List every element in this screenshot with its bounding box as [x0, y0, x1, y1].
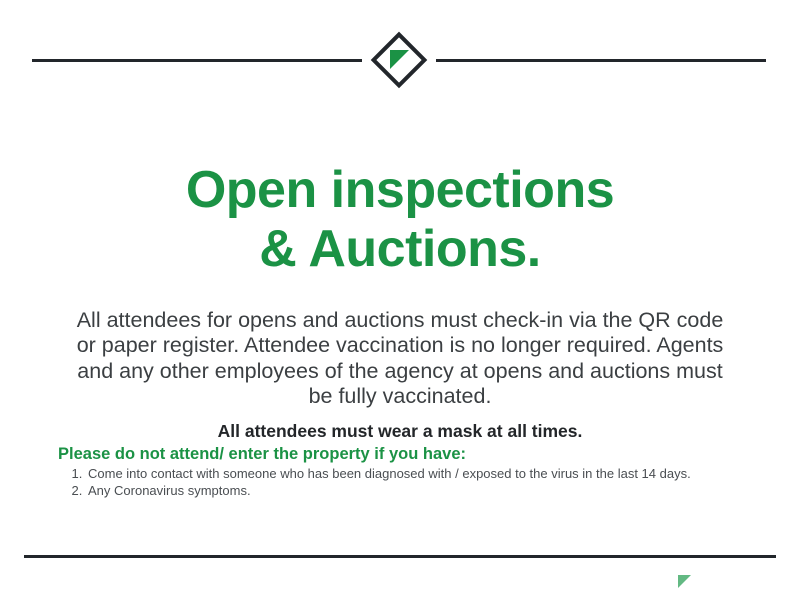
- mask-notice: All attendees must wear a mask at all ti…: [0, 420, 800, 442]
- footer-rule: [24, 555, 776, 558]
- do-not-attend-block: Please do not attend/ enter the property…: [58, 444, 758, 499]
- do-not-attend-heading: Please do not attend/ enter the property…: [58, 444, 758, 464]
- do-not-attend-list: Come into contact with someone who has b…: [58, 466, 758, 499]
- list-item: Any Coronavirus symptoms.: [86, 483, 758, 500]
- page-title: Open inspections & Auctions.: [0, 161, 800, 279]
- diamond-flag-logo: [368, 29, 430, 91]
- page-title-line-2: & Auctions.: [0, 220, 800, 279]
- list-item: Come into contact with someone who has b…: [86, 466, 758, 483]
- green-flag-mark-icon: [676, 573, 694, 591]
- header-rule-left: [32, 59, 362, 62]
- notice-poster: Open inspections & Auctions. All attende…: [0, 0, 800, 600]
- page-title-line-1: Open inspections: [0, 161, 800, 220]
- body-paragraph: All attendees for opens and auctions mus…: [68, 308, 732, 410]
- header-rule-right: [436, 59, 766, 62]
- header-band: [0, 30, 800, 90]
